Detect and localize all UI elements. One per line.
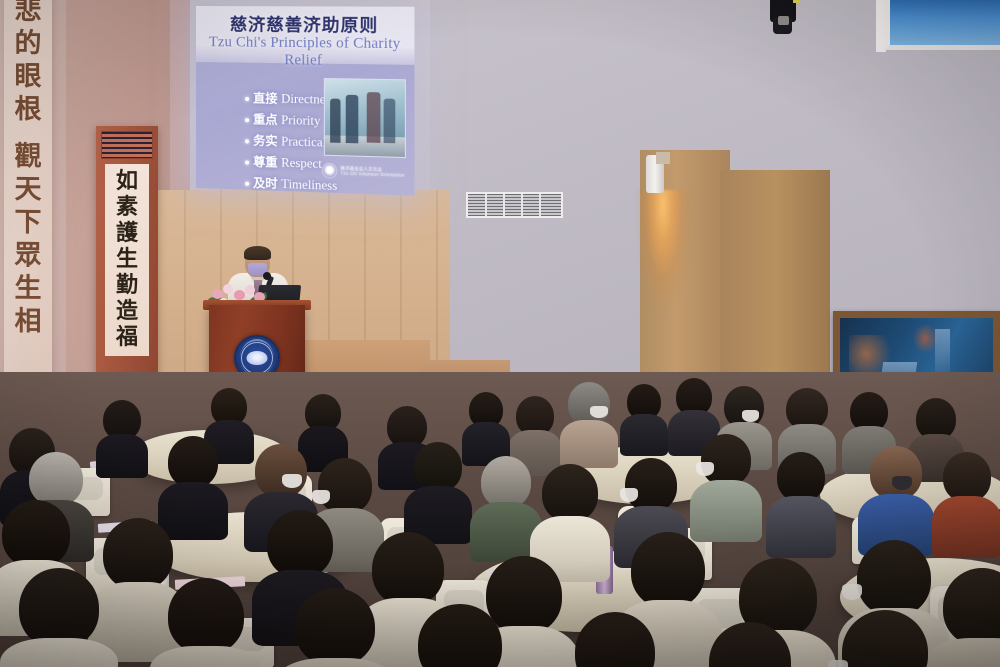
attendee [932,452,1000,552]
scroll-char: 相 [15,305,42,338]
scroll-char: 悲 [15,0,42,27]
bullet-dot-icon [245,97,249,101]
attendee [560,382,618,462]
presenter-hair [244,246,271,260]
attendee [690,434,762,536]
sconce-light-glow [634,190,692,380]
scroll-char: 素 [116,195,138,221]
spotlight-glow [778,16,789,25]
microphone-head [263,272,271,280]
bullet-cn: 务实 [253,133,277,148]
scroll-char: 勤 [116,273,138,299]
scroll-paper: 如 素 護 生 勤 造 福 [105,164,149,356]
slide-body: 直接 Directness 重点 Priority 务实 Practically… [196,62,414,196]
tzu-chi-logo-icon [322,162,338,178]
stage-spotlight-icon [768,0,802,36]
bullet-en: Timeliness [281,177,337,193]
attendee [822,610,948,667]
bullet-cn: 重点 [253,112,277,127]
bullet-cn: 及时 [253,176,277,191]
attendee [276,588,394,667]
scroll-char: 觀 [15,140,42,173]
attendee [404,442,472,538]
scroll-frame-lattice [101,131,153,159]
hvac-vent-icon [466,192,563,218]
calligraphy-scroll-left: 悲 的 眼 根 觀 天 下 眾 生 相 [4,0,52,390]
attendee [0,568,118,667]
auditorium-photo: 慈济慈善济助原则 Tzu Chi's Principles of Charity… [0,0,1000,667]
scroll-char: 下 [15,206,42,239]
bullet-dot-icon [245,181,249,185]
bullet-cn: 直接 [253,91,277,106]
attendee [690,622,810,667]
slide-photo [324,78,406,158]
bullet-en: Priority [281,113,320,128]
bullet-en: Respect [281,155,322,170]
scroll-char: 生 [116,247,138,273]
scroll-char: 造 [116,299,138,325]
attendee [556,612,674,667]
scroll-char: 生 [15,272,42,305]
slide-footer-logo-text: 慈济基金会人文志业 Tzu Chi Volunteer Orientation [341,165,405,177]
scroll-char: 護 [116,221,138,247]
logo-line-2: Tzu Chi Volunteer Orientation [341,171,405,178]
scroll-char: 眾 [15,239,42,272]
scroll-char: 的 [15,27,42,60]
attendee [620,384,668,450]
projection-screen: 慈济慈善济助原则 Tzu Chi's Principles of Charity… [196,6,414,196]
scroll-char: 如 [116,169,138,195]
attendee [858,446,934,550]
slide-footer-logo: 慈济基金会人文志业 Tzu Chi Volunteer Orientation [322,162,406,181]
attendee [766,452,836,552]
spotlight-led-indicator [793,0,800,3]
upper-window [884,0,1000,50]
attendee [150,578,262,667]
slide-header: 慈济慈善济助原则 Tzu Chi's Principles of Charity… [196,6,414,65]
emblem-lotus-icon [247,351,268,365]
calligraphy-scroll-framed: 如 素 護 生 勤 造 福 [96,126,158,402]
scroll-char: 根 [15,93,42,126]
scroll-char: 天 [15,173,42,206]
audience-seating [0,372,1000,667]
bullet-dot-icon [245,118,249,122]
slide-title-chinese: 慈济慈善济助原则 [196,10,414,37]
scroll-char: 福 [116,325,138,351]
attendee [96,400,148,470]
bullet-dot-icon [245,160,249,164]
attendee [398,604,522,667]
wall-sconce-cap [656,152,670,164]
scroll-char: 眼 [15,60,42,93]
bullet-cn: 尊重 [253,155,277,170]
bullet-dot-icon [245,139,249,143]
